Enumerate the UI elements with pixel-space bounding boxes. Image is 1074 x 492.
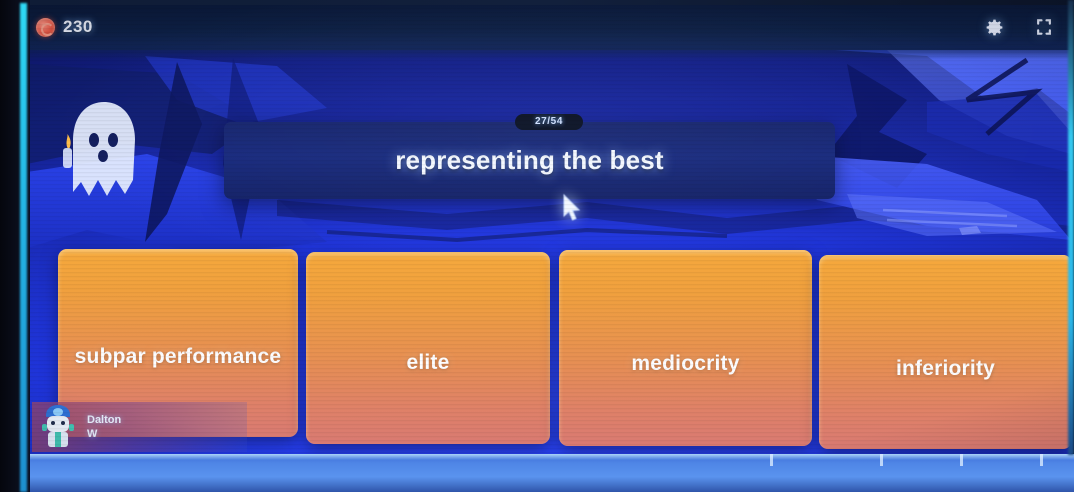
question-text: representing the best [375,145,684,176]
question-card: representing the best [224,122,835,199]
gear-icon[interactable] [983,16,1005,38]
coin-icon [36,18,55,37]
header-icon-group [983,16,1055,38]
player-last-initial: W [87,427,121,441]
game-header-bar [27,4,1071,50]
photographed-screen: 230 27/54 representing the best [0,0,1074,492]
answer-option-3[interactable]: mediocrity [559,250,812,446]
answer-label: subpar performance [58,345,298,369]
player-first-name: Dalton [87,413,121,427]
player-avatar-icon [38,402,78,453]
bezel-left-dark [0,0,30,492]
score-display: 230 [36,17,93,37]
fullscreen-icon[interactable] [1033,16,1055,38]
answer-label: mediocrity [559,352,812,376]
question-counter: 27/54 [515,114,583,130]
answer-label: inferiority [819,357,1071,381]
ghost-icon [61,96,147,221]
player-card: Dalton W [32,402,247,452]
answer-option-2[interactable]: elite [306,252,550,444]
answer-option-4[interactable]: inferiority [819,255,1071,449]
mouse-cursor-icon [561,194,583,229]
bezel-left-cyan-edge [20,3,27,492]
answer-label: elite [306,351,550,375]
game-viewport: 230 27/54 representing the best [27,4,1071,454]
bottom-light-strip [0,454,1074,492]
score-value: 230 [63,17,93,37]
player-name: Dalton W [87,413,121,441]
